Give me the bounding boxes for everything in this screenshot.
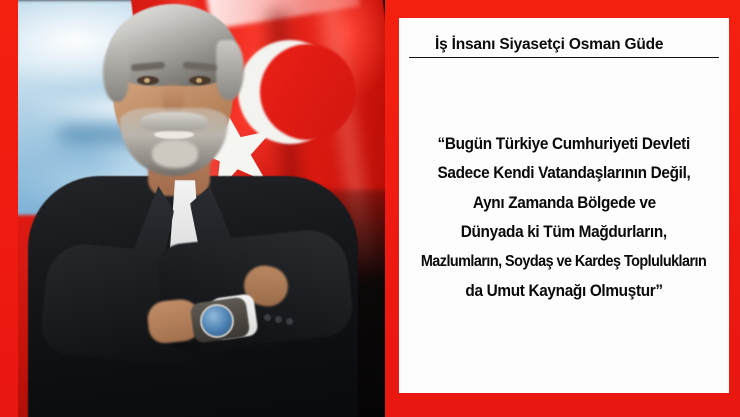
hair-side-right bbox=[216, 40, 244, 100]
hair-side-left bbox=[103, 44, 129, 102]
quote-line-1: “Bugün Türkiye Cumhuriyeti Devleti bbox=[438, 136, 690, 153]
subject-figure bbox=[0, 0, 385, 417]
sleeve-button-2 bbox=[275, 316, 282, 323]
quote-card: İş İnsanı Siyasetçi Osman Güde “Bugün Tü… bbox=[399, 18, 729, 393]
mustache bbox=[140, 112, 208, 131]
page-title: İş İnsanı Siyasetçi Osman Güde bbox=[409, 36, 719, 58]
quote-panel: İş İnsanı Siyasetçi Osman Güde “Bugün Tü… bbox=[385, 0, 740, 417]
chin-beard-highlight bbox=[152, 140, 198, 168]
quote-line-3: Aynı Zamanda Bölgede ve bbox=[473, 195, 656, 212]
quote-line-4: Dünyada ki Tüm Mağdurların, bbox=[461, 224, 667, 241]
quote-text-block: “Bugün Türkiye Cumhuriyeti Devleti Sadec… bbox=[409, 58, 719, 383]
quote-line-6: da Umut Kaynağı Olmuştur” bbox=[465, 283, 662, 300]
sleeve-button-1 bbox=[264, 314, 271, 321]
quote-line-2: Sadece Kendi Vatandaşlarının Değil, bbox=[438, 165, 691, 182]
eye-highlight-right bbox=[196, 78, 202, 83]
left-red-accent-bar bbox=[0, 0, 18, 417]
watch-icon bbox=[200, 304, 234, 338]
mouth bbox=[154, 130, 194, 139]
portrait-photo bbox=[0, 0, 385, 417]
quote-line-5: Mazlumların, Soydaş ve Kardeş Toplulukla… bbox=[421, 254, 706, 270]
poster-root: İş İnsanı Siyasetçi Osman Güde “Bugün Tü… bbox=[0, 0, 740, 417]
sleeve-button-3 bbox=[286, 318, 293, 325]
eye-highlight-left bbox=[144, 78, 150, 83]
